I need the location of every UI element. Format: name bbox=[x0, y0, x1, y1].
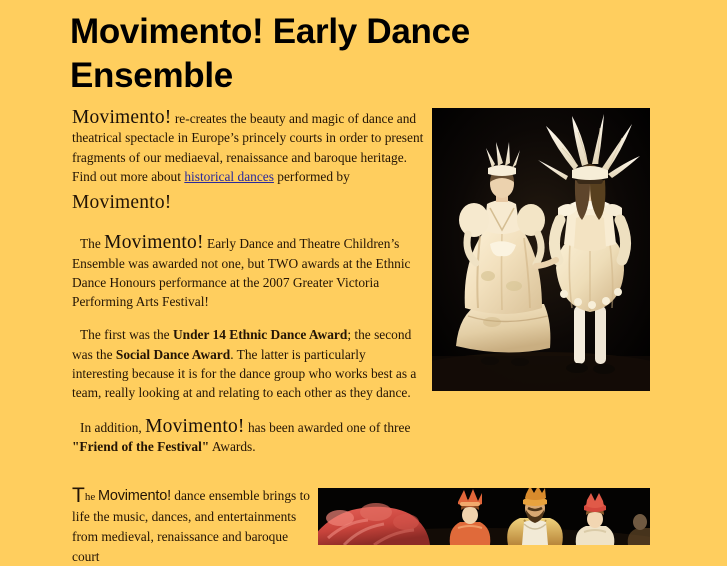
paragraph-friend-of-festival: In addition, Movimento! has been awarded… bbox=[72, 417, 424, 457]
award-details-text-a: The first was the bbox=[80, 327, 173, 342]
page-root: Movimento! Early Dance Ensemble Moviment… bbox=[0, 0, 727, 545]
paragraph-awards-intro: The Movimento! Early Dance and Theatre C… bbox=[72, 233, 424, 311]
paragraph-award-details: The first was the Under 14 Ethnic Dance … bbox=[72, 325, 424, 402]
paragraph-ensemble-description: The Movimento! dance ensemble brings to … bbox=[72, 486, 314, 566]
historical-dances-link[interactable]: historical dances bbox=[184, 169, 274, 184]
paragraph-intro: Movimento! re-creates the beauty and mag… bbox=[72, 108, 424, 217]
brand-word-movimento-bottom: Movimento! bbox=[98, 488, 171, 504]
photo-two-dancers-baroque-graphic bbox=[432, 108, 650, 391]
award-name-friend-of-the-festival: "Friend of the Festival" bbox=[72, 439, 209, 454]
main-text-column: Movimento! re-creates the beauty and mag… bbox=[72, 108, 424, 456]
brand-word-movimento-p2: Movimento! bbox=[104, 232, 204, 253]
drop-cap-letter: T bbox=[72, 484, 85, 507]
paragraph-intro-text-b: performed by bbox=[274, 169, 350, 184]
award-name-social-dance: Social Dance Award bbox=[116, 347, 230, 362]
paragraph-awards-lead: The bbox=[80, 236, 104, 251]
page-title: Movimento! Early Dance Ensemble bbox=[70, 10, 540, 98]
friend-festival-text-c: Awards. bbox=[209, 439, 255, 454]
photo-costumed-performers-red bbox=[318, 488, 650, 545]
friend-festival-text-a: In addition, bbox=[80, 420, 145, 435]
friend-festival-text-b: has been awarded one of three bbox=[245, 420, 411, 435]
photo-two-dancers-baroque bbox=[432, 108, 650, 391]
brand-word-movimento-p4: Movimento! bbox=[145, 416, 245, 437]
photo-costumed-performers-red-graphic bbox=[318, 488, 650, 545]
brand-word-movimento: Movimento! bbox=[72, 107, 172, 128]
brand-word-movimento-trailing: Movimento! bbox=[72, 189, 424, 217]
dropcap-continuation: he bbox=[85, 491, 98, 503]
award-name-under-14-ethnic-dance: Under 14 Ethnic Dance Award bbox=[173, 327, 347, 342]
